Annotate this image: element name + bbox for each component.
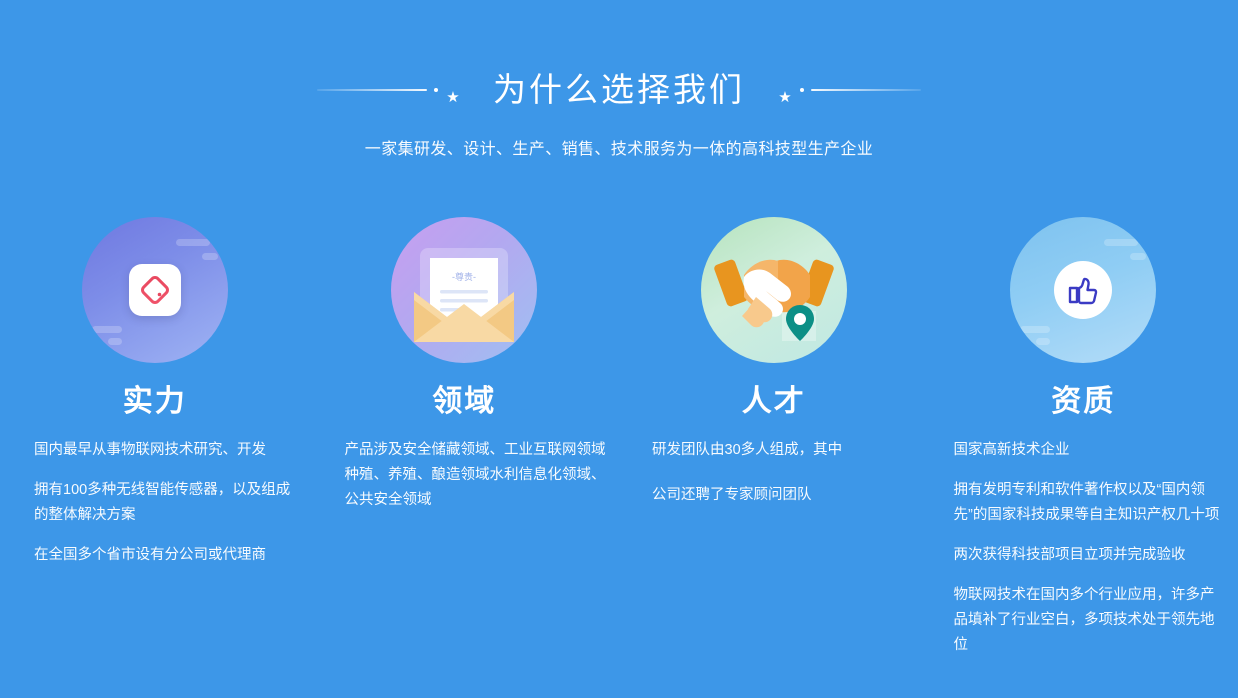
page-title: 为什么选择我们 <box>465 68 773 112</box>
column-body: 研发团队由30多人组成，其中 公司还聘了专家顾问团队 <box>619 438 929 508</box>
list-item: 拥有发明专利和软件著作权以及“国内领先”的国家科技成果等自主知识产权几十项 <box>954 478 1229 528</box>
decoration-dot-icon <box>800 88 804 92</box>
icon-tile <box>129 264 181 316</box>
decoration-dot-icon <box>434 88 438 92</box>
icon-container <box>0 205 310 375</box>
envelope-glyph: -尊贵- <box>400 230 528 350</box>
list-item: 两次获得科技部项目立项并完成验收 <box>954 543 1229 568</box>
feature-column-qualification: 资质 国家高新技术企业 拥有发明专利和软件著作权以及“国内领先”的国家科技成果等… <box>929 205 1238 673</box>
list-item: 在全国多个省市设有分公司或代理商 <box>34 543 298 568</box>
icon-disc <box>1054 261 1112 319</box>
diamond-tag-glyph <box>138 273 172 307</box>
thumbs-up-glyph <box>1066 273 1100 307</box>
svg-text:-尊贵-: -尊贵- <box>452 271 476 282</box>
column-body: 产品涉及安全储藏领域、工业互联网领域种殖、养殖、酿造领域水利信息化领域、公共安全… <box>310 438 620 513</box>
feature-columns: 实力 国内最早从事物联网技术研究、开发 拥有100多种无线智能传感器，以及组成的… <box>0 205 1238 673</box>
section-header: ★ 为什么选择我们 ★ 一家集研发、设计、生产、销售、技术服务为一体的高科技型生… <box>0 0 1238 161</box>
title-decoration-left: ★ <box>317 80 465 100</box>
decoration-line-icon <box>811 89 921 91</box>
list-item: 研发团队由30多人组成，其中 <box>652 438 919 463</box>
list-item: 产品涉及安全储藏领域、工业互联网领域种殖、养殖、酿造领域水利信息化领域、公共安全… <box>345 438 612 513</box>
handshake-location-icon <box>701 217 847 363</box>
column-body: 国家高新技术企业 拥有发明专利和软件著作权以及“国内领先”的国家科技成果等自主知… <box>929 438 1238 658</box>
column-heading: 资质 <box>929 381 1238 423</box>
list-item: 国家高新技术企业 <box>954 438 1229 463</box>
feature-column-strength: 实力 国内最早从事物联网技术研究、开发 拥有100多种无线智能传感器，以及组成的… <box>0 205 310 673</box>
column-heading: 人才 <box>619 381 929 423</box>
icon-container <box>619 205 929 375</box>
column-heading: 领域 <box>310 381 620 423</box>
title-decoration-right: ★ <box>773 80 921 100</box>
thumbs-up-icon <box>1010 217 1156 363</box>
tag-diamond-icon <box>82 217 228 363</box>
list-item: 国内最早从事物联网技术研究、开发 <box>34 438 298 463</box>
list-item: 拥有100多种无线智能传感器，以及组成的整体解决方案 <box>34 478 298 528</box>
list-item: 公司还聘了专家顾问团队 <box>652 483 919 508</box>
icon-container: -尊贵- <box>310 205 620 375</box>
icon-container <box>929 205 1238 375</box>
envelope-letter-icon: -尊贵- <box>391 217 537 363</box>
list-item: 物联网技术在国内多个行业应用，许多产品填补了行业空白，多项技术处于领先地位 <box>954 583 1229 658</box>
column-heading: 实力 <box>0 381 310 423</box>
handshake-glyph <box>714 235 834 345</box>
page-subtitle: 一家集研发、设计、生产、销售、技术服务为一体的高科技型生产企业 <box>0 139 1238 161</box>
feature-column-fields: -尊贵- 领域 产品涉及安全储藏领域、工业互联网领域种殖、养殖、酿造领域水利信息… <box>310 205 620 673</box>
decoration-line-icon <box>317 89 427 91</box>
column-body: 国内最早从事物联网技术研究、开发 拥有100多种无线智能传感器，以及组成的整体解… <box>0 438 310 568</box>
title-row: ★ 为什么选择我们 ★ <box>0 62 1238 118</box>
feature-column-talent: 人才 研发团队由30多人组成，其中 公司还聘了专家顾问团队 <box>619 205 929 673</box>
